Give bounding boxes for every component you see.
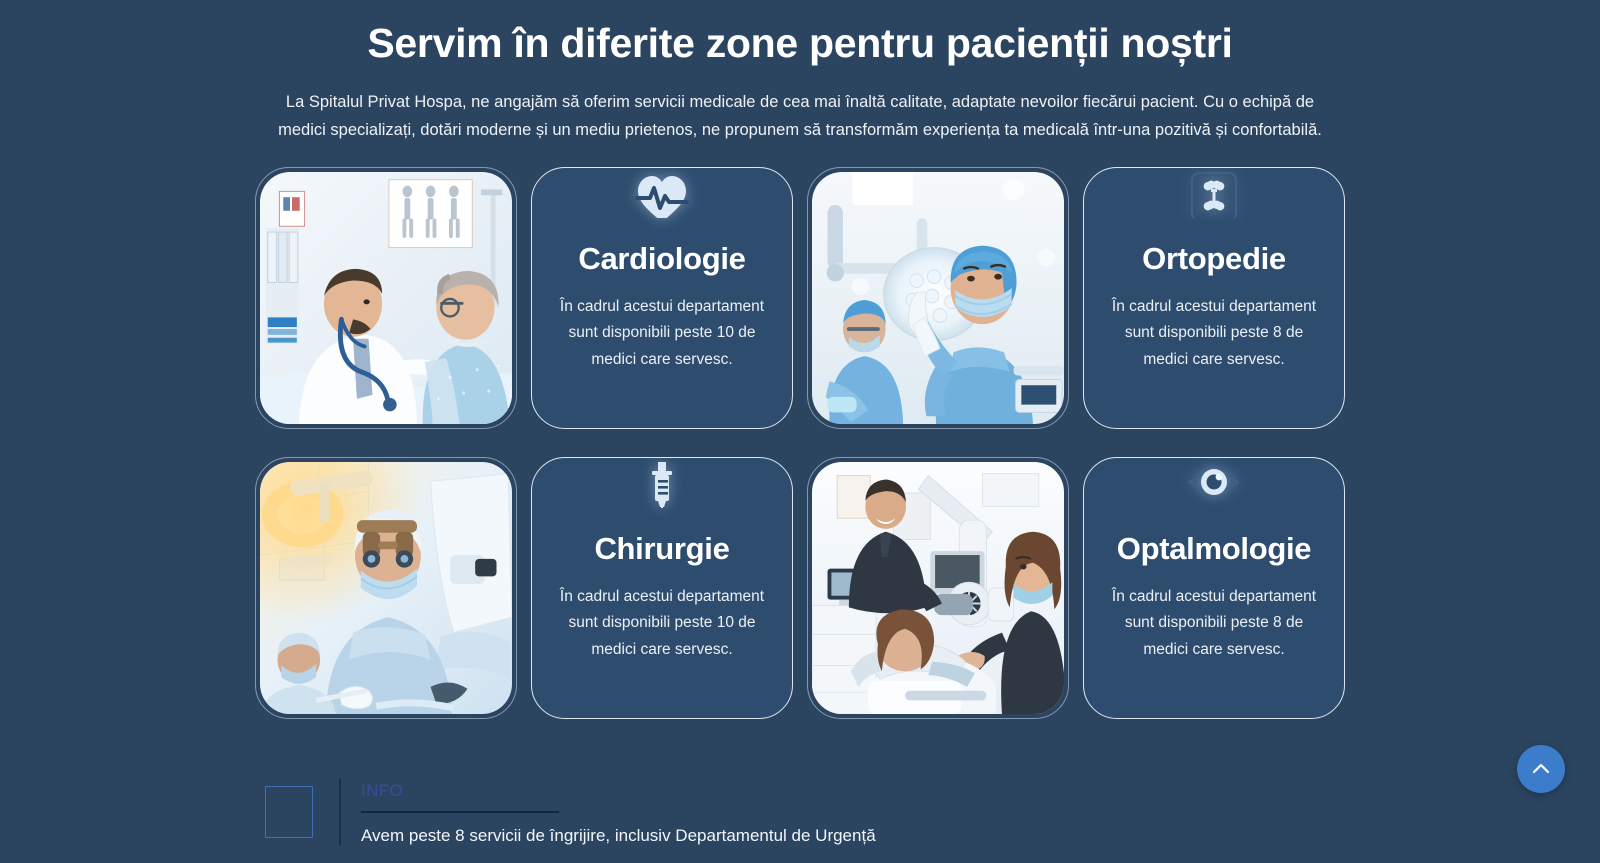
card-title: Chirurgie	[594, 532, 729, 566]
department-card-optalmologie[interactable]: Optalmologie În cadrul acestui departame…	[1083, 457, 1345, 719]
department-photo-card-4[interactable]	[807, 457, 1069, 719]
departments-grid: Cardiologie În cadrul acestui departamen…	[255, 167, 1345, 719]
department-photo-card-3[interactable]	[255, 457, 517, 719]
department-card-ortopedie[interactable]: Ortopedie În cadrul acestui departament …	[1083, 167, 1345, 429]
department-card-cardiologie[interactable]: Cardiologie În cadrul acestui departamen…	[531, 167, 793, 429]
info-body: INFO Avem peste 8 servicii de îngrijire,…	[361, 778, 876, 846]
surgeons-scrubbing-photo	[812, 172, 1064, 424]
info-text: Avem peste 8 servicii de îngrijire, incl…	[361, 826, 876, 846]
eye-exam-photo	[812, 462, 1064, 714]
info-strip: INFO Avem peste 8 servicii de îngrijire,…	[265, 778, 876, 846]
department-photo-card-1[interactable]	[255, 167, 517, 429]
doctor-stethoscope-photo	[260, 172, 512, 424]
card-title: Optalmologie	[1117, 532, 1311, 566]
bone-icon	[1187, 172, 1241, 218]
info-placeholder-box	[265, 786, 313, 838]
page-header: Servim în diferite zone pentru pacienții…	[0, 0, 1600, 145]
scroll-to-top-button[interactable]	[1517, 745, 1565, 793]
card-description: În cadrul acestui departament sunt dispo…	[552, 294, 772, 374]
syringe-icon	[635, 462, 689, 508]
card-title: Cardiologie	[578, 242, 745, 276]
info-label: INFO	[361, 778, 876, 799]
info-divider	[339, 778, 341, 846]
card-description: În cadrul acestui departament sunt dispo…	[1104, 294, 1324, 374]
page-intro-paragraph: La Spitalul Privat Hospa, ne angajăm să …	[260, 89, 1340, 144]
card-title: Ortopedie	[1142, 242, 1286, 276]
page-title: Servim în diferite zone pentru pacienții…	[0, 18, 1600, 69]
department-photo-card-2[interactable]	[807, 167, 1069, 429]
heart-pulse-icon	[635, 172, 689, 218]
department-card-chirurgie[interactable]: Chirurgie În cadrul acestui departament …	[531, 457, 793, 719]
chevron-up-icon	[1530, 758, 1552, 780]
eye-icon	[1187, 462, 1241, 508]
card-description: În cadrul acestui departament sunt dispo…	[1104, 584, 1324, 664]
info-rule	[361, 811, 559, 813]
operating-room-photo	[260, 462, 512, 714]
card-description: În cadrul acestui departament sunt dispo…	[552, 584, 772, 664]
